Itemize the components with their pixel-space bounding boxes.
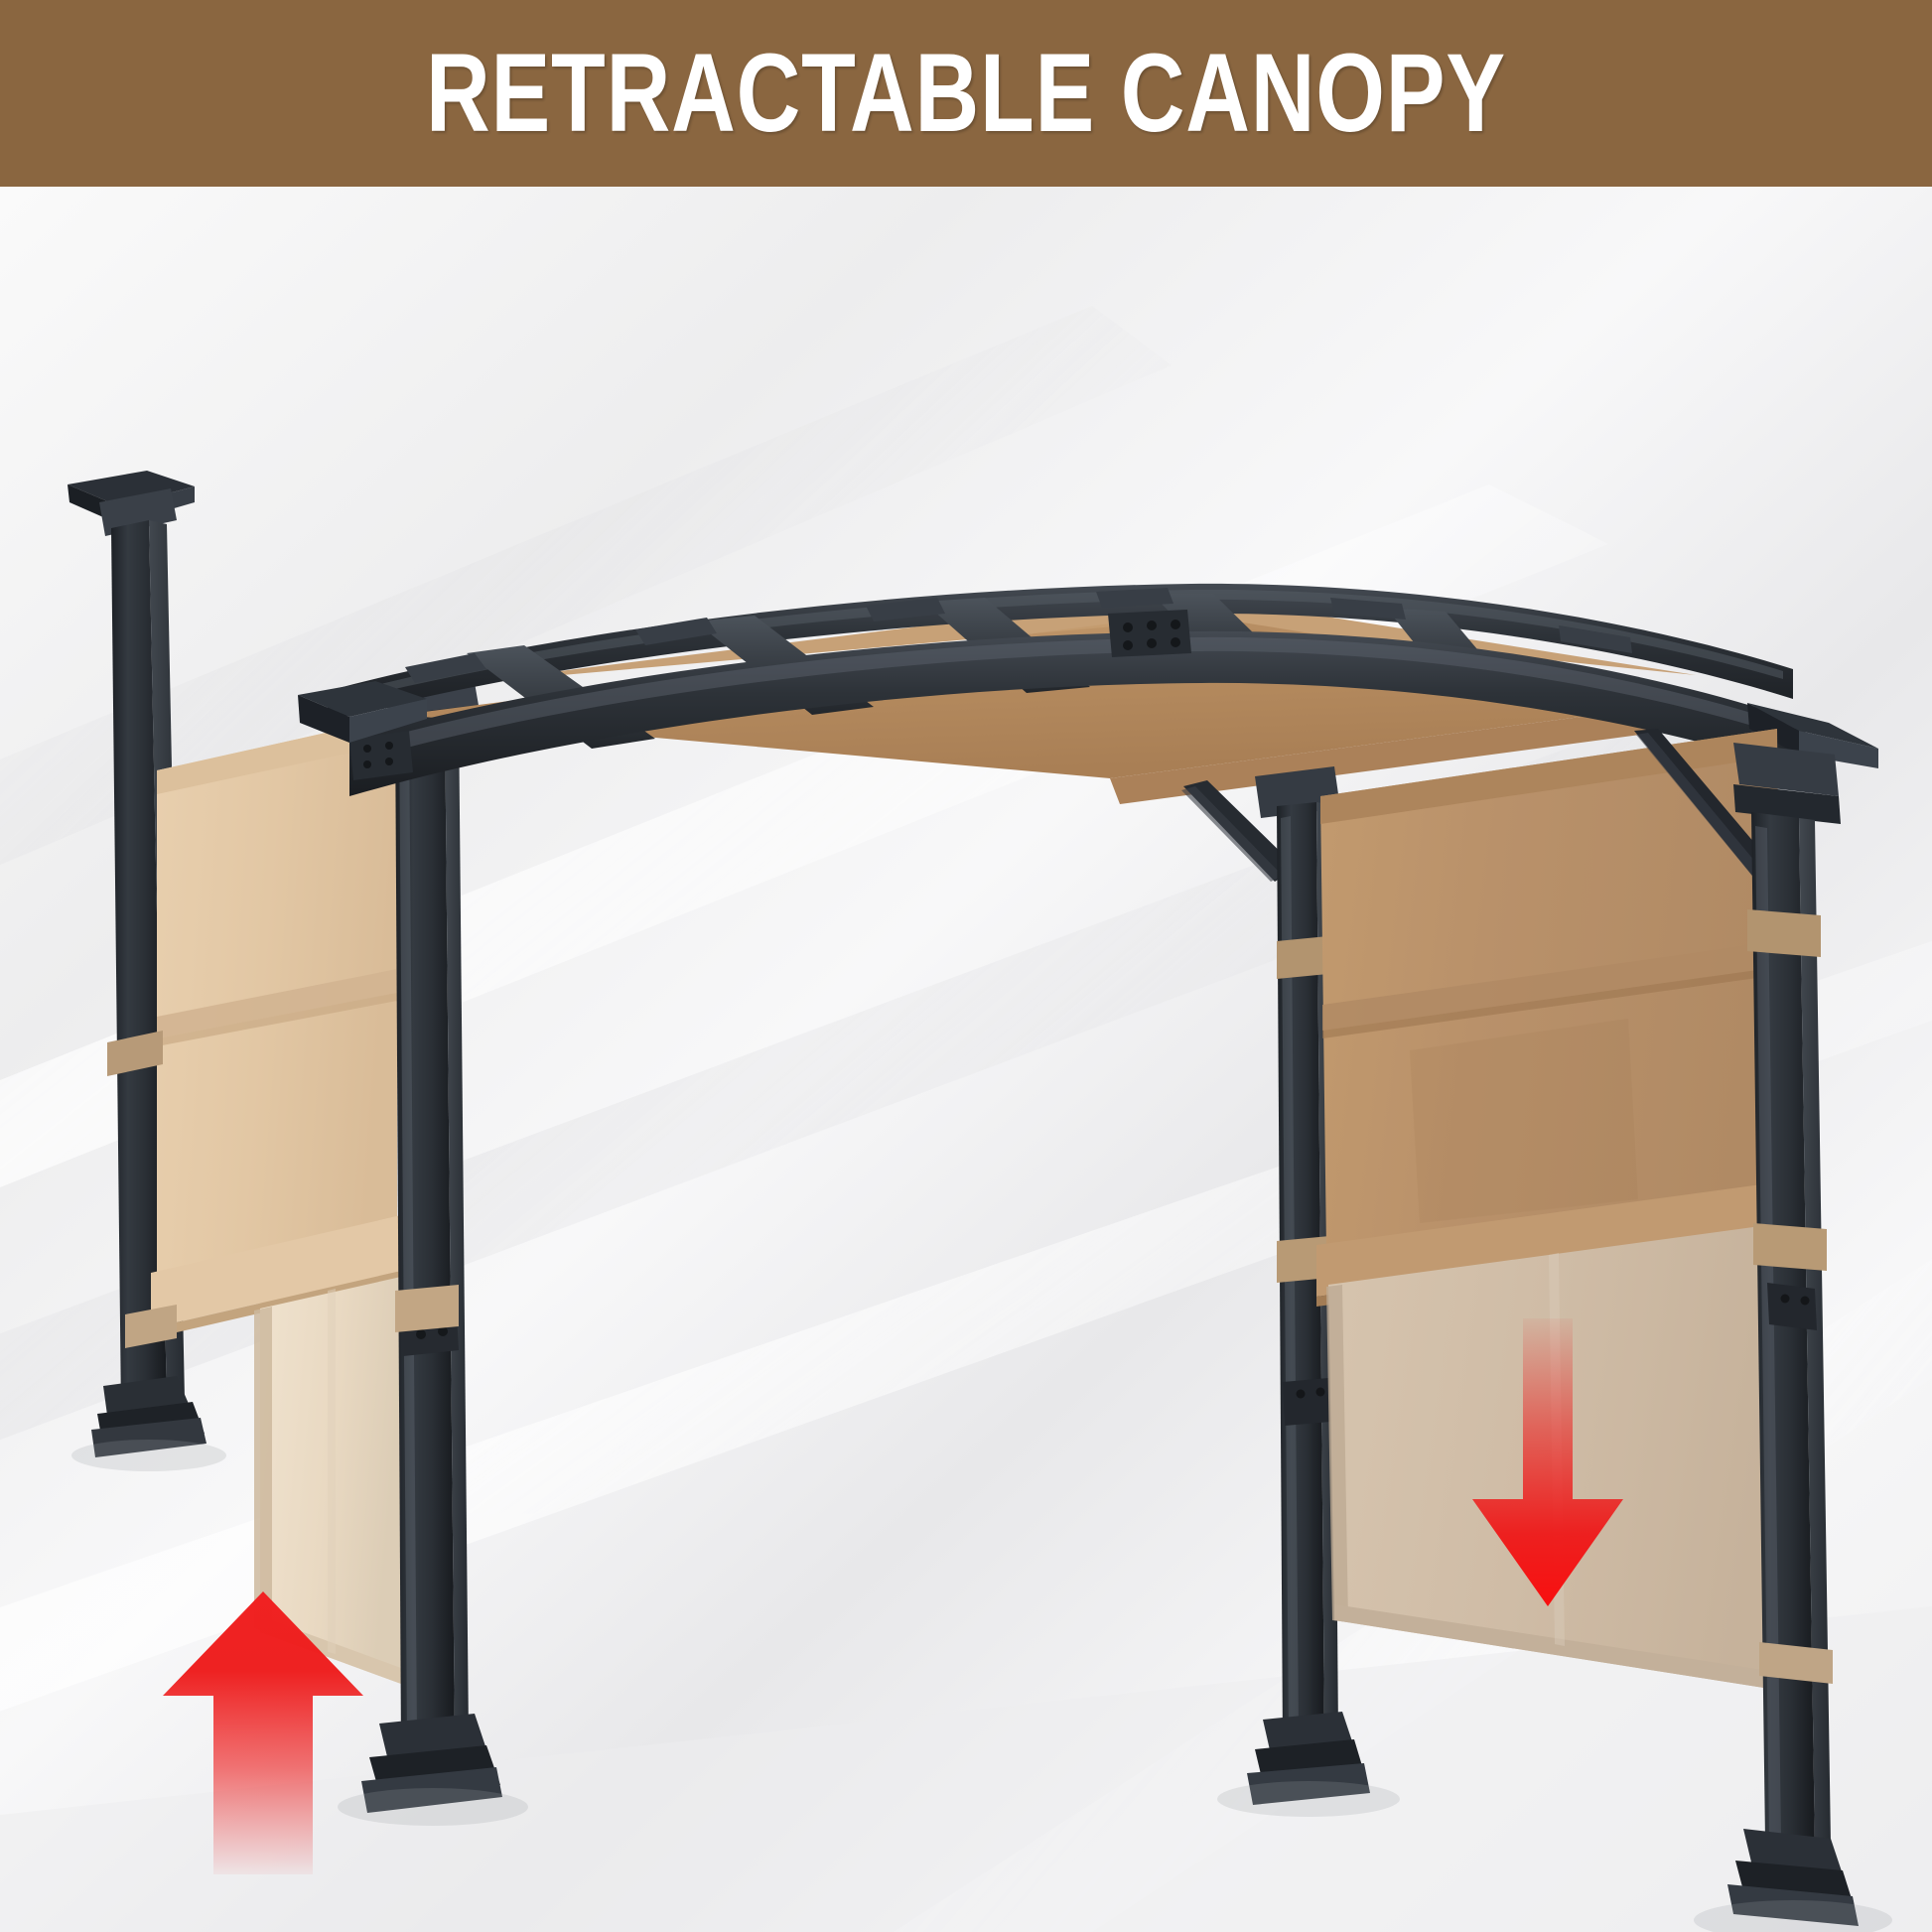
pergola-illustration — [0, 187, 1932, 1932]
beam-bolt-plate — [1108, 610, 1191, 657]
product-photo — [0, 187, 1932, 1932]
front-left-post-strap — [395, 1285, 459, 1332]
marketing-image: RETRACTABLE CANOPY Canopy can be adjuste… — [0, 0, 1932, 1932]
page-title: RETRACTABLE CANOPY — [426, 38, 1506, 149]
header-banner: RETRACTABLE CANOPY — [0, 0, 1932, 187]
